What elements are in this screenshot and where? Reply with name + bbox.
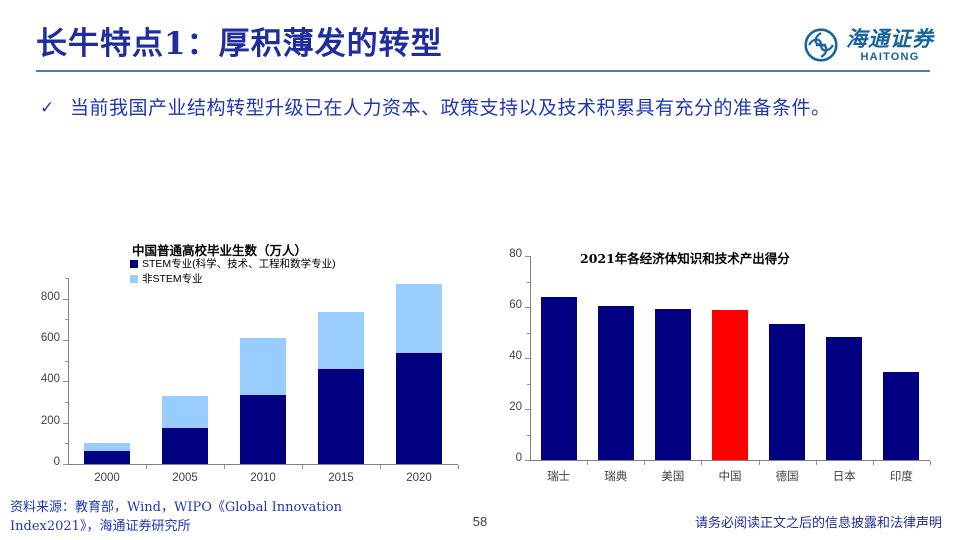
y-axis-tick-label: 200 — [20, 415, 60, 427]
x-axis-tick-label: 德国 — [759, 468, 816, 484]
y-axis-tick — [65, 361, 68, 362]
x-axis-tick — [644, 461, 645, 465]
bar-segment — [84, 451, 130, 464]
bar — [826, 337, 862, 460]
x-axis-tick-label: 2020 — [380, 472, 458, 484]
y-axis-tick — [525, 307, 530, 308]
chart-legend-item: 非STEM专业 — [130, 271, 203, 286]
bar — [655, 309, 691, 460]
y-axis-tick-label: 0 — [482, 452, 522, 464]
x-axis-tick-label: 瑞士 — [530, 468, 587, 484]
y-axis-tick — [525, 256, 530, 257]
x-axis-tick — [458, 465, 459, 469]
legend-label: STEM专业(科学、技术、工程和数学专业) — [142, 256, 336, 271]
y-axis-tick — [63, 340, 68, 341]
disclaimer-text: 请务必阅读正文之后的信息披露和法律声明 — [695, 512, 942, 531]
y-axis-tick — [525, 460, 530, 461]
bar-segment — [396, 284, 442, 354]
x-axis-tick-label: 印度 — [873, 468, 930, 484]
y-axis-tick — [65, 443, 68, 444]
x-axis-tick — [873, 461, 874, 465]
y-axis-tick-label: 40 — [482, 350, 522, 362]
bar-segment — [162, 428, 208, 464]
y-axis-tick — [63, 423, 68, 424]
y-axis-line — [68, 278, 69, 464]
bar — [541, 297, 577, 460]
y-axis-tick-label: 800 — [20, 291, 60, 303]
y-axis-tick-label: 20 — [482, 401, 522, 413]
chart-legend-item: STEM专业(科学、技术、工程和数学专业) — [130, 256, 336, 271]
bar — [712, 310, 748, 460]
legend-label: 非STEM专业 — [142, 271, 203, 286]
logo-english-text: HAITONG — [861, 52, 920, 63]
x-axis-tick-label: 瑞典 — [587, 468, 644, 484]
y-axis-tick — [65, 278, 68, 279]
y-axis-tick — [527, 435, 530, 436]
y-axis-tick-label: 0 — [20, 456, 60, 468]
chart-knowledge-tech-output-bar: 2021年各经济体知识和技术产出得分020406080瑞士瑞典美国中国德国日本印… — [490, 240, 955, 490]
haitong-logo: 海通证券 HAITONG — [804, 22, 934, 68]
legend-color-swatch — [130, 260, 138, 268]
x-axis-tick — [816, 461, 817, 465]
y-axis-tick-label: 60 — [482, 299, 522, 311]
x-axis-tick-label: 2010 — [224, 472, 302, 484]
chart-title: 2021年各经济体知识和技术产出得分 — [580, 248, 790, 267]
page-title: 长牛特点1：厚积薄发的转型 — [36, 18, 443, 63]
bullet-point: ✓ 当前我国产业结构转型升级已在人力资本、政策支持以及技术积累具有充分的准备条件… — [40, 92, 900, 124]
x-axis-tick-label: 中国 — [701, 468, 758, 484]
legend-color-swatch — [130, 275, 138, 283]
y-axis-tick — [527, 384, 530, 385]
x-axis-tick — [587, 461, 588, 465]
x-axis-tick — [759, 461, 760, 465]
x-axis-tick-label: 美国 — [644, 468, 701, 484]
y-axis-tick — [65, 319, 68, 320]
y-axis-tick-label: 80 — [482, 248, 522, 260]
x-axis-tick — [701, 461, 702, 465]
y-axis-tick — [525, 409, 530, 410]
x-axis-tick — [930, 461, 931, 465]
bar-segment — [240, 395, 286, 464]
x-axis-tick — [146, 465, 147, 469]
bullet-text: 当前我国产业结构转型升级已在人力资本、政策支持以及技术积累具有充分的准备条件。 — [70, 92, 831, 124]
x-axis-tick — [224, 465, 225, 469]
x-axis-tick-label: 2005 — [146, 472, 224, 484]
x-axis-tick-label: 日本 — [816, 468, 873, 484]
bar — [769, 324, 805, 460]
bar-segment — [318, 369, 364, 464]
x-axis-line — [68, 464, 458, 465]
y-axis-tick — [63, 299, 68, 300]
y-axis-tick-label: 400 — [20, 373, 60, 385]
y-axis-tick — [65, 402, 68, 403]
bar-segment — [162, 396, 208, 428]
chart-graduates-stacked-bar: 中国普通高校毕业生数（万人）02004006008002000200520102… — [10, 240, 470, 490]
y-axis-tick — [63, 381, 68, 382]
y-axis-tick — [525, 358, 530, 359]
bar-segment — [396, 353, 442, 464]
title-divider — [36, 70, 930, 72]
haitong-emblem-icon — [804, 28, 838, 62]
y-axis-tick — [527, 282, 530, 283]
y-axis-tick — [527, 333, 530, 334]
bar — [598, 306, 634, 460]
bar-segment — [84, 443, 130, 451]
x-axis-tick-label: 2015 — [302, 472, 380, 484]
x-axis-tick-label: 2000 — [68, 472, 146, 484]
y-axis-line — [530, 256, 531, 460]
slide: 长牛特点1：厚积薄发的转型 海通证券 HAITONG ✓ 当前我国产业结构转型升… — [0, 0, 960, 540]
x-axis-tick — [302, 465, 303, 469]
bar — [883, 372, 919, 460]
checkmark-icon: ✓ — [40, 92, 70, 124]
y-axis-tick-label: 600 — [20, 332, 60, 344]
x-axis-tick — [380, 465, 381, 469]
y-axis-tick — [63, 464, 68, 465]
x-axis-line — [530, 460, 930, 461]
logo-chinese-text: 海通证券 — [846, 28, 934, 49]
bar-segment — [240, 338, 286, 396]
bar-segment — [318, 312, 364, 369]
